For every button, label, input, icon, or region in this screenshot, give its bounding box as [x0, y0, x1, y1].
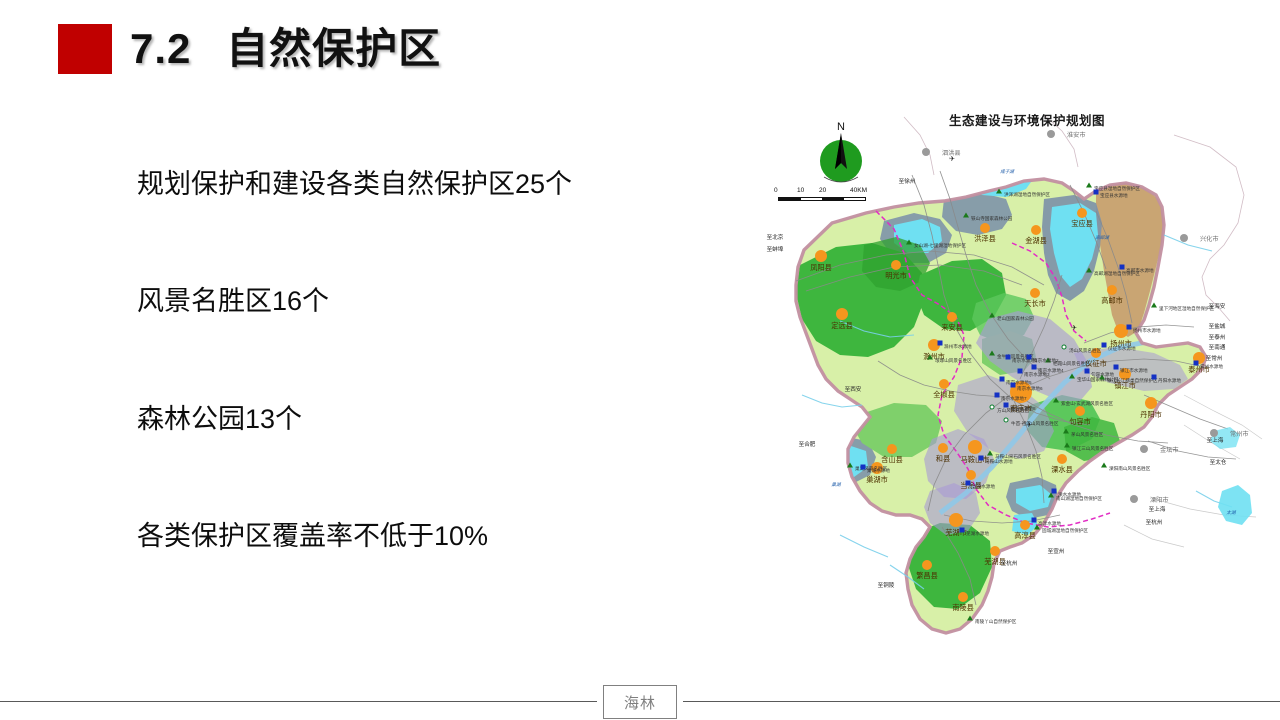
reserve-label: 紫金山-玄武湖风景名胜区 — [1061, 401, 1113, 407]
reserve-label: 女山湖-七里湖湿地保护区 — [914, 243, 966, 249]
water-source-marker-icon — [1006, 355, 1011, 360]
context-city-label: 常州市 — [1230, 429, 1249, 438]
water-source-marker-icon — [1094, 190, 1099, 195]
water-source-marker-icon — [1052, 489, 1057, 494]
city-label: 凤阳县 — [810, 263, 832, 273]
water-source-marker-icon — [1102, 343, 1107, 348]
city-label: 天长市 — [1024, 299, 1046, 309]
nature-reserve-marker-icon — [1101, 463, 1107, 468]
city-dot — [1145, 397, 1157, 409]
title-number: 7.2 — [130, 25, 191, 72]
city-dot — [949, 513, 963, 527]
water-source-label: 南京水源地2 — [1033, 358, 1059, 364]
map-annotation-layer: 宝应县金湖县洪泽县高邮市天长市凤阳县明光市定远县来安县滁州市扬州市仪征市泰州市南… — [744, 95, 1274, 670]
nature-reserve-marker-icon — [927, 355, 933, 360]
city-dot — [922, 560, 932, 570]
footer-badge: 海林 — [603, 685, 677, 719]
water-source-marker-icon — [1000, 377, 1005, 382]
reserve-label: 茅山风景名胜区 — [1071, 432, 1103, 438]
slide-footer: 海林 — [0, 685, 1280, 719]
body-line-4: 各类保护区覆盖率不低于10% — [137, 520, 697, 552]
reserve-label: 汤山风景名胜区 — [1069, 348, 1101, 354]
reserve-label: 洪泽湖湿地自然保护区 — [1004, 192, 1050, 198]
footer-rule-right — [683, 701, 1280, 702]
page-title: 7.2 自然保护区 — [130, 28, 441, 70]
water-source-label: 扬州市水源地 — [1133, 328, 1161, 334]
water-source-label: 南京水源地7 — [1001, 396, 1027, 402]
water-source-marker-icon — [1085, 369, 1090, 374]
nature-reserve-marker-icon — [989, 351, 995, 356]
city-dot — [1031, 225, 1041, 235]
city-label: 来安县 — [941, 323, 963, 333]
water-source-label: 高淳水源地 — [1038, 521, 1061, 527]
scenic-area-marker-icon — [1004, 418, 1009, 423]
reserve-label: 宝应县湿地自然保护区 — [1094, 186, 1140, 192]
route-direction-label: 至上海 — [1149, 505, 1166, 513]
nature-reserve-marker-icon — [1086, 183, 1092, 188]
city-dot — [947, 312, 957, 322]
map-figure: 生态建设与环境保护规划图 N 0 10 20 40KM 宝应县金湖 — [744, 95, 1274, 670]
city-label: 和县 — [936, 454, 950, 464]
nature-reserve-marker-icon — [967, 616, 973, 621]
city-dot — [1107, 285, 1117, 295]
water-source-marker-icon — [1120, 265, 1125, 270]
water-source-marker-icon — [960, 528, 965, 533]
slide: 7.2 自然保护区 规划保护和建设各类自然保护区25个 风景名胜区16个 森林公… — [0, 0, 1280, 720]
route-direction-label: 至北京 — [767, 233, 784, 241]
water-source-marker-icon — [861, 465, 866, 470]
city-dot — [1075, 406, 1085, 416]
scenic-area-marker-icon — [990, 405, 995, 410]
city-dot — [1020, 520, 1030, 530]
water-source-label: 芜湖水源地 — [966, 531, 989, 537]
city-dot — [836, 308, 848, 320]
route-direction-label: 至常州 — [1206, 354, 1223, 362]
water-source-marker-icon — [1018, 369, 1023, 374]
nature-reserve-marker-icon — [906, 240, 912, 245]
water-body-label: 太湖 — [1226, 510, 1235, 516]
airport-icon: ✈ — [1071, 324, 1077, 332]
water-source-marker-icon — [1032, 518, 1037, 523]
context-city-dot — [1140, 445, 1148, 453]
water-body-label: 成子湖 — [1000, 169, 1014, 175]
water-source-marker-icon — [1152, 375, 1157, 380]
footer-label: 海林 — [624, 692, 656, 713]
city-label: 高邮市 — [1101, 296, 1123, 306]
water-body-label: 高邮湖 — [1095, 235, 1109, 241]
water-source-label: 南京水源地8 — [1010, 406, 1036, 412]
reserve-label: 溧阳南山风景名胜区 — [1109, 466, 1150, 472]
body-line-2: 风景名胜区16个 — [137, 285, 697, 317]
context-city-label: 溧阳市 — [1150, 495, 1169, 504]
water-source-label: 句容水源地 — [1091, 372, 1114, 378]
city-dot — [938, 443, 948, 453]
city-label: 繁昌县 — [916, 571, 938, 581]
nature-reserve-marker-icon — [1151, 303, 1157, 308]
route-direction-label: 至徐州 — [899, 177, 916, 185]
reserve-label: 铁山寺国家森林公园 — [971, 216, 1012, 222]
airport-icon: ✈ — [949, 155, 955, 163]
water-body-label: 巢湖 — [831, 482, 840, 488]
reserve-label: 镇江长江豚类自然保护区 — [1107, 378, 1158, 384]
city-label: 宝应县 — [1071, 219, 1093, 229]
city-label: 定远县 — [831, 321, 853, 331]
title-label: 自然保护区 — [226, 25, 441, 72]
city-label: 巢湖市 — [866, 475, 888, 485]
city-label: 南陵县 — [952, 603, 974, 613]
context-city-dot — [922, 148, 930, 156]
water-source-marker-icon — [1032, 365, 1037, 370]
scenic-area-marker-icon — [1062, 345, 1067, 350]
water-source-label: 溧水水源地 — [1058, 492, 1081, 498]
slide-title: 7.2 自然保护区 — [58, 24, 441, 74]
water-source-label: 当涂水源地 — [972, 484, 995, 490]
nature-reserve-marker-icon — [1063, 429, 1069, 434]
reserve-label: 南陵丫山自然保护区 — [975, 619, 1016, 625]
water-source-marker-icon — [1027, 355, 1032, 360]
water-source-label: 仪征市水源地 — [1108, 346, 1136, 352]
body-text-list: 规划保护和建设各类自然保护区25个 风景名胜区16个 森林公园13个 各类保护区… — [137, 168, 697, 553]
nature-reserve-marker-icon — [1069, 374, 1075, 379]
city-label: 洪泽县 — [974, 234, 996, 244]
city-label: 溧水县 — [1051, 465, 1073, 475]
water-source-label: 镇江市水源地 — [1120, 368, 1148, 374]
water-source-label: 滁州市水源地 — [944, 344, 972, 350]
city-label: 金湖县 — [1025, 236, 1047, 246]
water-source-marker-icon — [938, 341, 943, 346]
city-dot — [968, 440, 982, 454]
water-source-label: 南京水源地4 — [1038, 368, 1064, 374]
context-city-label: 兴化市 — [1200, 234, 1219, 243]
body-line-1: 规划保护和建设各类自然保护区25个 — [137, 168, 697, 200]
footer-rule-left — [0, 701, 597, 702]
city-dot — [1077, 208, 1087, 218]
water-source-label: 宝应县水源地 — [1100, 193, 1128, 199]
route-direction-label: 至南通 — [1209, 343, 1226, 351]
reserve-label: 里下河地区湿地自然保护区 — [1159, 306, 1214, 312]
route-direction-label: 至上海 — [1207, 436, 1224, 444]
context-city-dot — [1180, 234, 1188, 242]
city-dot — [887, 444, 897, 454]
route-direction-label: 至铜陵 — [878, 581, 895, 589]
nature-reserve-marker-icon — [996, 189, 1002, 194]
reserve-label: 牛首-祖堂山风景名胜区 — [1011, 421, 1058, 427]
city-dot — [815, 250, 827, 262]
water-source-marker-icon — [966, 481, 971, 486]
water-source-label: 马鞍山水源地 — [985, 459, 1013, 465]
context-city-label: 淮安市 — [1067, 130, 1086, 139]
route-direction-label: 至杭州 — [1146, 518, 1163, 526]
water-source-marker-icon — [1194, 361, 1199, 366]
airport-icon: ✈ — [1026, 421, 1032, 429]
nature-reserve-marker-icon — [1064, 443, 1070, 448]
city-label: 丹阳市 — [1140, 410, 1162, 420]
water-source-label: 常州水源地 — [1200, 364, 1223, 370]
route-direction-label: 至泰州 — [1209, 333, 1226, 341]
reserve-label: 镇江三山风景名胜区 — [1072, 446, 1113, 452]
city-dot — [966, 470, 976, 480]
nature-reserve-marker-icon — [963, 213, 969, 218]
city-dot — [990, 546, 1000, 556]
city-dot — [980, 223, 990, 233]
reserve-label: 固城湖湿地自然保护区 — [1042, 528, 1088, 534]
nature-reserve-marker-icon — [847, 463, 853, 468]
city-dot — [939, 379, 949, 389]
route-direction-label: 至杭州 — [1001, 559, 1018, 567]
context-city-dot — [1130, 495, 1138, 503]
water-source-marker-icon — [1114, 365, 1119, 370]
reserve-label: 老山国家森林公园 — [997, 316, 1034, 322]
water-source-marker-icon — [1127, 325, 1132, 330]
water-source-label: 高邮市水源地 — [1126, 268, 1154, 274]
water-source-label: 丹阳水源地 — [1158, 378, 1181, 384]
route-direction-label: 至宣州 — [1048, 547, 1065, 555]
context-city-label: 金坛市 — [1160, 445, 1179, 454]
route-direction-label: 至太仓 — [1210, 458, 1227, 466]
title-bullet-square — [58, 24, 112, 74]
body-line-3: 森林公园13个 — [137, 403, 697, 435]
water-source-marker-icon — [1004, 403, 1009, 408]
city-label: 高淳县 — [1014, 531, 1036, 541]
nature-reserve-marker-icon — [1053, 398, 1059, 403]
water-source-marker-icon — [995, 393, 1000, 398]
city-label: 句容市 — [1069, 417, 1091, 427]
nature-reserve-marker-icon — [987, 451, 993, 456]
nature-reserve-marker-icon — [989, 313, 995, 318]
water-source-marker-icon — [979, 456, 984, 461]
city-label: 全椒县 — [933, 390, 955, 400]
route-direction-label: 至盐城 — [1209, 322, 1226, 330]
route-direction-label: 至合肥 — [799, 440, 816, 448]
reserve-label: 琅琊山风景名胜区 — [935, 358, 972, 364]
route-direction-label: 至蚌埠 — [767, 245, 784, 253]
city-dot — [891, 260, 901, 270]
city-dot — [958, 592, 968, 602]
city-label: 明光市 — [885, 271, 907, 281]
water-source-label: 巢湖水源地 — [867, 468, 890, 474]
city-dot — [1057, 454, 1067, 464]
water-source-marker-icon — [1011, 383, 1016, 388]
water-source-label: 南京水源地6 — [1017, 386, 1043, 392]
route-direction-label: 至西安 — [845, 385, 862, 393]
city-dot — [1030, 288, 1040, 298]
context-city-dot — [1047, 130, 1055, 138]
city-label: 含山县 — [881, 455, 903, 465]
nature-reserve-marker-icon — [1086, 268, 1092, 273]
